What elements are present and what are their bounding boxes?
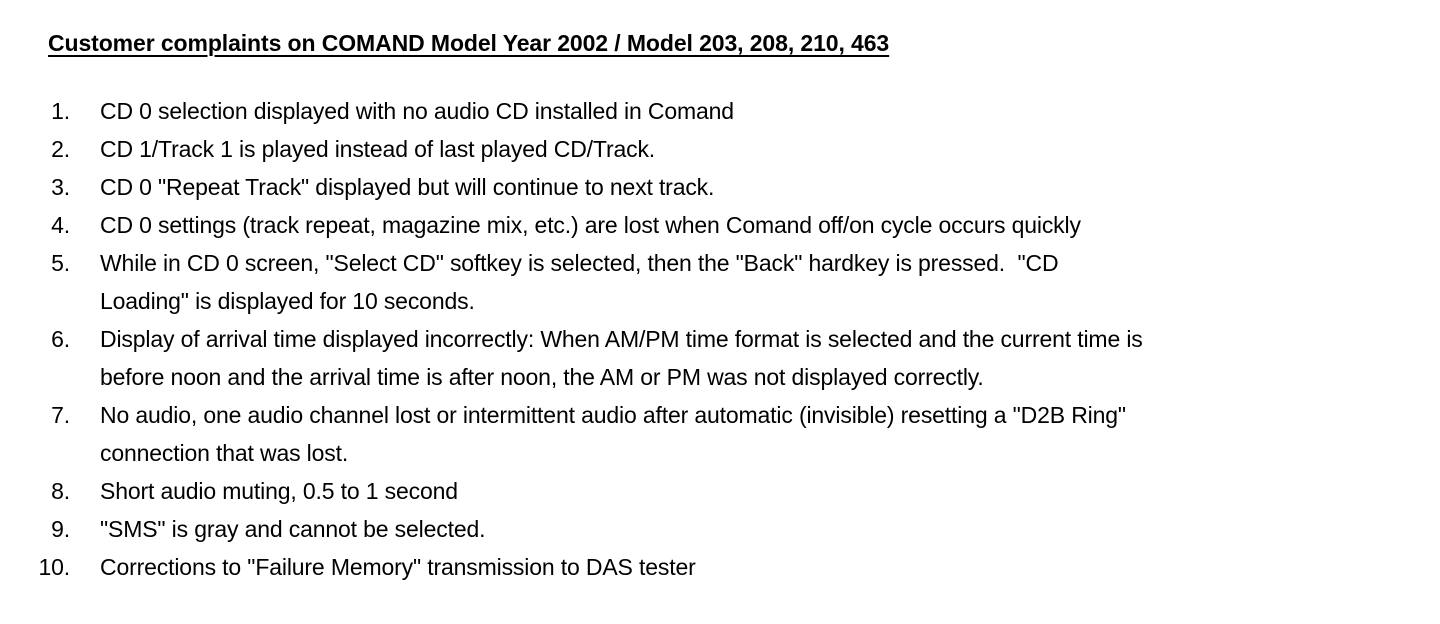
list-item-text: Short audio muting, 0.5 to 1 second	[70, 472, 1410, 510]
list-item-number: 3.	[0, 168, 70, 206]
list-item-line: Short audio muting, 0.5 to 1 second	[100, 472, 1410, 510]
list-item-text: CD 1/Track 1 is played instead of last p…	[70, 130, 1410, 168]
list-item-text: Corrections to "Failure Memory" transmis…	[70, 548, 1410, 586]
list-item-text: "SMS" is gray and cannot be selected.	[70, 510, 1410, 548]
list-item: 5.While in CD 0 screen, "Select CD" soft…	[0, 244, 1440, 320]
list-item: 1.CD 0 selection displayed with no audio…	[0, 92, 1440, 130]
list-item-number: 7.	[0, 396, 70, 434]
list-item: 7.No audio, one audio channel lost or in…	[0, 396, 1440, 472]
list-item: 6.Display of arrival time displayed inco…	[0, 320, 1440, 396]
list-item: 8.Short audio muting, 0.5 to 1 second	[0, 472, 1440, 510]
list-item-line: CD 1/Track 1 is played instead of last p…	[100, 130, 1410, 168]
page-title: Customer complaints on COMAND Model Year…	[48, 30, 889, 57]
list-item-number: 8.	[0, 472, 70, 510]
list-item-line: connection that was lost.	[100, 434, 1410, 472]
list-item-line: Loading" is displayed for 10 seconds.	[100, 282, 1410, 320]
list-item-line: CD 0 settings (track repeat, magazine mi…	[100, 206, 1410, 244]
list-item-line: "SMS" is gray and cannot be selected.	[100, 510, 1410, 548]
list-item-text: Display of arrival time displayed incorr…	[70, 320, 1410, 396]
list-item-text: No audio, one audio channel lost or inte…	[70, 396, 1410, 472]
list-item-number: 10.	[0, 548, 70, 586]
list-item-text: CD 0 settings (track repeat, magazine mi…	[70, 206, 1410, 244]
list-item-line: before noon and the arrival time is afte…	[100, 358, 1410, 396]
list-item-line: CD 0 "Repeat Track" displayed but will c…	[100, 168, 1410, 206]
list-item-line: Display of arrival time displayed incorr…	[100, 320, 1410, 358]
complaint-list: 1.CD 0 selection displayed with no audio…	[0, 92, 1440, 586]
list-item-number: 1.	[0, 92, 70, 130]
document-page: Customer complaints on COMAND Model Year…	[0, 0, 1440, 624]
list-item-line: Corrections to "Failure Memory" transmis…	[100, 548, 1410, 586]
list-item-line: No audio, one audio channel lost or inte…	[100, 396, 1410, 434]
list-item-line: CD 0 selection displayed with no audio C…	[100, 92, 1410, 130]
list-item: 9."SMS" is gray and cannot be selected.	[0, 510, 1440, 548]
list-item-text: CD 0 selection displayed with no audio C…	[70, 92, 1410, 130]
list-item: 4.CD 0 settings (track repeat, magazine …	[0, 206, 1440, 244]
list-item: 10.Corrections to "Failure Memory" trans…	[0, 548, 1440, 586]
list-item-number: 5.	[0, 244, 70, 282]
list-item-line: While in CD 0 screen, "Select CD" softke…	[100, 244, 1410, 282]
list-item-text: While in CD 0 screen, "Select CD" softke…	[70, 244, 1410, 320]
list-item: 3.CD 0 "Repeat Track" displayed but will…	[0, 168, 1440, 206]
list-item-number: 9.	[0, 510, 70, 548]
list-item-number: 4.	[0, 206, 70, 244]
list-item-number: 6.	[0, 320, 70, 358]
list-item-text: CD 0 "Repeat Track" displayed but will c…	[70, 168, 1410, 206]
list-item: 2.CD 1/Track 1 is played instead of last…	[0, 130, 1440, 168]
list-item-number: 2.	[0, 130, 70, 168]
